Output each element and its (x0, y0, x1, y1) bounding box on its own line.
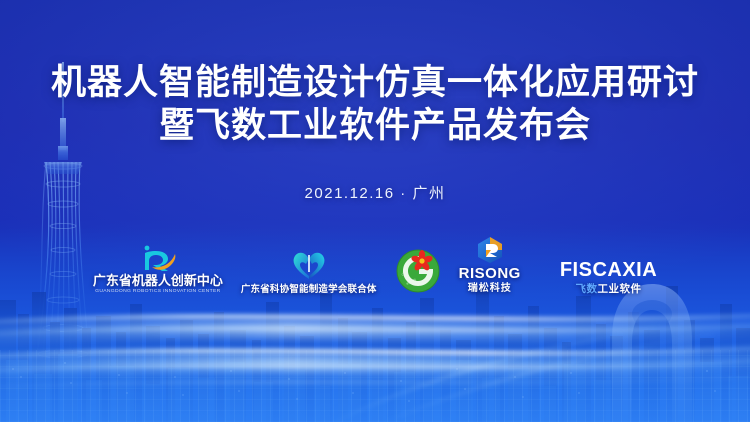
sponsor-logo-row: 广东省机器人创新中心 GUANGDONG ROBOTICS INNOVATION… (0, 236, 750, 294)
logo-guangdong-intelligent-manufacturing-society-union: 广东省科协智能制造学会联合体 (241, 248, 377, 295)
date-location-text: 2021.12.16 · 广州 (0, 182, 750, 203)
logo-5-name-cn-accent: 飞数 (576, 283, 598, 295)
teal-ribbon-heart-icon (289, 248, 329, 282)
logo-1-name-en: GUANGDONG ROBOTICS INNOVATION CENTER (95, 289, 220, 294)
logo-fiscaxia-industrial-software: FISCAXIA 飞数工业软件 (560, 260, 657, 295)
logo-green-g-emblem: 广东省 机械工程 (395, 248, 441, 294)
title-line-1: 机器人智能制造设计仿真一体化应用研讨 (0, 62, 750, 105)
title-line-2: 暨飞数工业软件产品发布会 (0, 105, 750, 148)
logo-1-name-cn: 广东省机器人创新中心 (93, 274, 223, 287)
logo-5-name-cn-rest: 工业软件 (598, 283, 642, 295)
logo-4-brand: RISONG (459, 266, 521, 281)
page-title: 机器人智能制造设计仿真一体化应用研讨 暨飞数工业软件产品发布会 (0, 62, 750, 147)
stylized-r-robot-icon (135, 243, 181, 273)
logo-5-brand: FISCAXIA (560, 260, 657, 280)
logo-5-name-cn: 飞数工业软件 (576, 284, 642, 295)
logo-guangdong-robotics-innovation-center: 广东省机器人创新中心 GUANGDONG ROBOTICS INNOVATION… (93, 243, 223, 294)
logo-2-name-cn: 广东省科协智能制造学会联合体 (241, 285, 377, 295)
logo-risong-technology: RISONG 瑞松科技 (459, 236, 521, 294)
hexagon-r-badge-icon (475, 236, 505, 264)
event-poster: 机器人智能制造设计仿真一体化应用研讨 暨飞数工业软件产品发布会 2021.12.… (0, 0, 750, 422)
logo-4-name-cn: 瑞松科技 (468, 284, 512, 294)
green-g-flower-emblem-icon: 广东省 机械工程 (395, 248, 441, 294)
